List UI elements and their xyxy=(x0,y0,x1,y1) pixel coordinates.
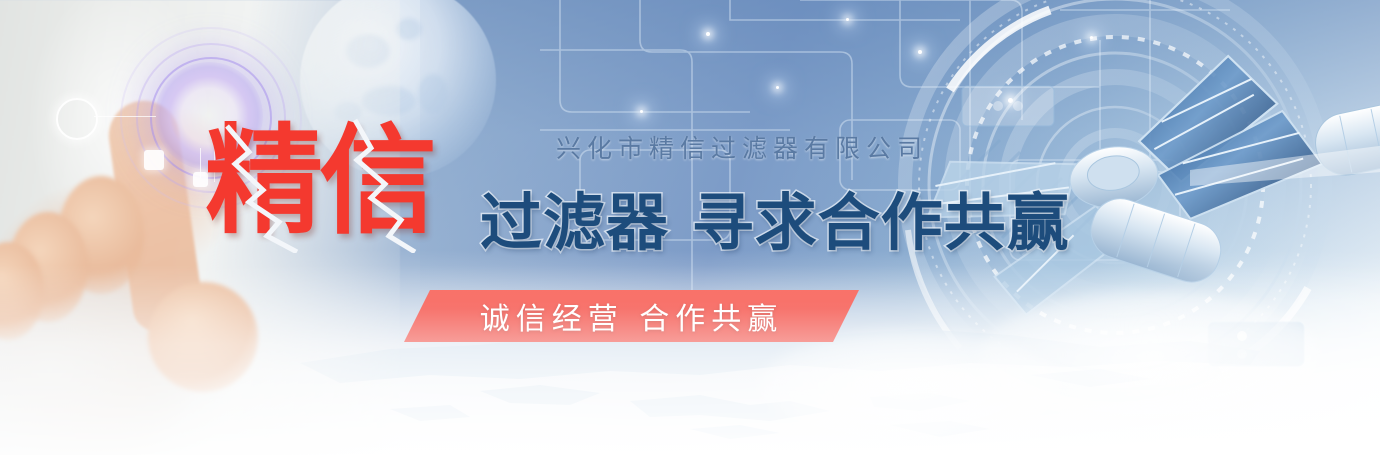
slogan-ribbon-text: 诚信经营 合作共赢 xyxy=(404,290,859,342)
star-dot xyxy=(706,32,710,36)
hero-banner: 精信 兴化市精信过滤器有限公司 过滤器 寻求合作共赢 诚信经营 合作共赢 xyxy=(0,0,1380,455)
hud-connector-line xyxy=(94,116,156,117)
star-dot xyxy=(640,110,643,113)
hud-connector-line xyxy=(200,148,201,178)
headline-slogan: 过滤器 寻求合作共赢 xyxy=(480,172,1070,262)
hud-circle-icon xyxy=(56,98,98,140)
brand-logo-text: 精信 xyxy=(205,122,433,240)
hud-node-square xyxy=(144,150,164,170)
star-dot xyxy=(776,86,779,89)
thumb-knuckle xyxy=(148,282,258,392)
star-dot xyxy=(846,18,849,21)
company-name: 兴化市精信过滤器有限公司 xyxy=(556,129,928,165)
